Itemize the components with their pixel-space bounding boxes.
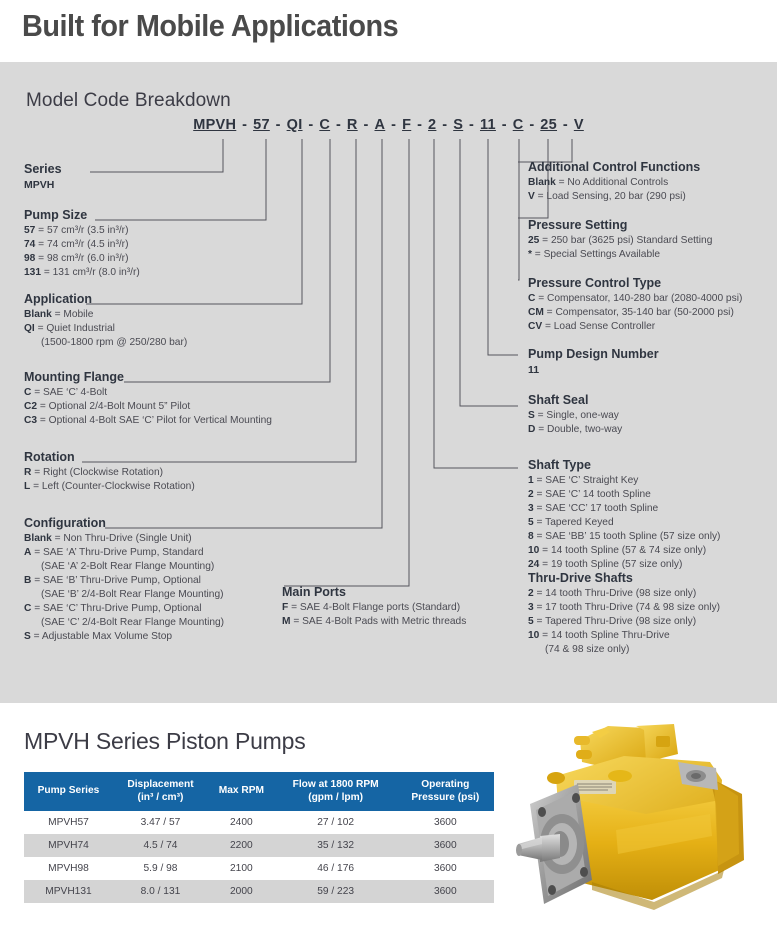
option-code: 25 (528, 235, 539, 246)
option-code: C (528, 293, 535, 304)
right-block-5-option: 3 = SAE ‘CC’ 17 tooth Spline (528, 502, 720, 516)
right-block-6-option: (74 & 98 size only) (528, 643, 720, 657)
block-shaft-seal: Shaft SealS = Single, one-wayD = Double,… (528, 393, 622, 437)
main-ports-option: M = SAE 4-Bolt Pads with Metric threads (282, 615, 466, 629)
right-block-0-option: Blank = No Additional Controls (528, 176, 700, 190)
option-code: 131 (24, 267, 41, 278)
table-row: MPVH744.5 / 74220035 / 1323600 (24, 834, 494, 857)
option-code: 3 (528, 503, 534, 514)
table-column-header: OperatingPressure (psi) (397, 772, 494, 811)
option-code: A (24, 547, 31, 558)
main-ports-heading: Main Ports (282, 585, 466, 599)
table-header-row: Pump SeriesDisplacement(in³ / cm³)Max RP… (24, 772, 494, 811)
table-cell: 3600 (397, 880, 494, 903)
left-block-5-option: (SAE ‘C’ 2/4-Bolt Rear Flange Mounting) (24, 616, 224, 630)
code-segment-57: 57 (253, 117, 270, 133)
block-rotation: RotationR = Right (Clockwise Rotation)L … (24, 450, 195, 494)
option-code: C3 (24, 415, 37, 426)
option-code: Blank (528, 177, 556, 188)
code-segment-c: C (513, 117, 524, 133)
option-code: CM (528, 307, 544, 318)
right-block-5-option: 10 = 14 tooth Spline (57 & 74 size only) (528, 544, 720, 558)
block-pump-size: Pump Size57 = 57 cm³/r (3.5 in³/r)74 = 7… (24, 208, 140, 280)
block-additional-control-functions: Additional Control FunctionsBlank = No A… (528, 160, 700, 204)
code-separator: - (358, 117, 375, 133)
left-block-1-option: 131 = 131 cm³/r (8.0 in³/r) (24, 266, 140, 280)
block-shaft-type: Shaft Type1 = SAE ‘C’ Straight Key2 = SA… (528, 458, 720, 572)
option-code: 8 (528, 531, 534, 542)
table-cell: MPVH131 (24, 880, 113, 903)
option-code: Blank (24, 309, 52, 320)
table-column-header: Flow at 1800 RPM(gpm / lpm) (275, 772, 397, 811)
model-code-string: MPVH - 57 - QI - C - R - A - F - 2 - S -… (0, 117, 777, 133)
table-row: MPVH985.9 / 98210046 / 1763600 (24, 857, 494, 880)
left-block-5-option: A = SAE ‘A’ Thru-Drive Pump, Standard (24, 546, 224, 560)
option-code: 24 (528, 559, 539, 570)
table-cell: 59 / 223 (275, 880, 397, 903)
option-code: 10 (528, 630, 539, 641)
option-code: C (24, 603, 31, 614)
option-code: 5 (528, 517, 534, 528)
pump-specs-table: Pump SeriesDisplacement(in³ / cm³)Max RP… (24, 772, 494, 903)
left-block-2-heading: Application (24, 292, 187, 306)
table-cell: 3600 (397, 834, 494, 857)
code-segment-f: F (402, 117, 411, 133)
left-block-4-heading: Rotation (24, 450, 195, 464)
left-block-3-heading: Mounting Flange (24, 370, 272, 384)
option-code: 98 (24, 253, 35, 264)
code-separator: - (385, 117, 402, 133)
code-separator: - (436, 117, 453, 133)
table-row: MPVH573.47 / 57240027 / 1023600 (24, 811, 494, 834)
left-block-1-option: 98 = 98 cm³/r (6.0 in³/r) (24, 252, 140, 266)
block-configuration: ConfigurationBlank = Non Thru-Drive (Sin… (24, 516, 224, 644)
table-cell: MPVH98 (24, 857, 113, 880)
code-segment-s: S (453, 117, 463, 133)
code-separator: - (330, 117, 347, 133)
left-block-5-heading: Configuration (24, 516, 224, 530)
option-code: Blank (24, 533, 52, 544)
right-block-2-heading: Pressure Control Type (528, 276, 742, 290)
left-block-0-value: MPVH (24, 178, 62, 192)
left-block-5-option: S = Adjustable Max Volume Stop (24, 630, 224, 644)
option-code: S (24, 631, 31, 642)
section-title: MPVH Series Piston Pumps (24, 728, 306, 755)
left-block-3-option: C = SAE ‘C’ 4-Bolt (24, 386, 272, 400)
option-code: V (528, 191, 535, 202)
block-main-ports: Main PortsF = SAE 4-Bolt Flange ports (S… (282, 585, 466, 629)
option-code: B (24, 575, 31, 586)
option-code: C2 (24, 401, 37, 412)
block-pressure-setting: Pressure Setting25 = 250 bar (3625 psi) … (528, 218, 712, 262)
left-block-2-option: QI = Quiet Industrial (24, 322, 187, 336)
option-code: QI (24, 323, 35, 334)
table-cell: 5.9 / 98 (113, 857, 208, 880)
panel-title: Model Code Breakdown (26, 90, 231, 112)
table-cell: 8.0 / 131 (113, 880, 208, 903)
code-separator: - (524, 117, 541, 133)
code-segment-25: 25 (540, 117, 557, 133)
table-cell: 2400 (208, 811, 275, 834)
option-code: 1 (528, 475, 534, 486)
option-code: R (24, 467, 31, 478)
code-separator: - (236, 117, 253, 133)
table-column-header: Pump Series (24, 772, 113, 811)
left-block-4-option: R = Right (Clockwise Rotation) (24, 466, 195, 480)
right-block-1-option: 25 = 250 bar (3625 psi) Standard Setting (528, 234, 712, 248)
option-code: 2 (528, 489, 534, 500)
option-code: 2 (528, 588, 534, 599)
code-separator: - (303, 117, 320, 133)
left-block-3-option: C3 = Optional 4-Bolt SAE ‘C’ Pilot for V… (24, 414, 272, 428)
code-segment-11: 11 (480, 117, 496, 133)
right-block-6-option: 3 = 17 tooth Thru-Drive (74 & 98 size on… (528, 601, 720, 615)
code-separator: - (411, 117, 428, 133)
left-block-4-option: L = Left (Counter-Clockwise Rotation) (24, 480, 195, 494)
table-cell: 4.5 / 74 (113, 834, 208, 857)
right-block-5-option: 2 = SAE ‘C’ 14 tooth Spline (528, 488, 720, 502)
option-code: 57 (24, 225, 35, 236)
table-cell: MPVH74 (24, 834, 113, 857)
right-block-5-option: 8 = SAE ‘BB’ 15 tooth Spline (57 size on… (528, 530, 720, 544)
code-separator: - (463, 117, 480, 133)
block-thru-drive-shafts: Thru-Drive Shafts2 = 14 tooth Thru-Drive… (528, 571, 720, 657)
option-code: F (282, 602, 288, 613)
right-block-5-option: 5 = Tapered Keyed (528, 516, 720, 530)
code-segment-mpvh: MPVH (193, 117, 236, 133)
option-code: M (282, 616, 291, 627)
table-cell: MPVH57 (24, 811, 113, 834)
code-separator: - (496, 117, 513, 133)
option-code: 3 (528, 602, 534, 613)
right-block-4-heading: Shaft Seal (528, 393, 622, 407)
table-cell: 2100 (208, 857, 275, 880)
table-header: Pump SeriesDisplacement(in³ / cm³)Max RP… (24, 772, 494, 811)
option-code: D (528, 424, 535, 435)
option-code: 5 (528, 616, 534, 627)
right-block-2-option: CM = Compensator, 35-140 bar (50-2000 ps… (528, 306, 742, 320)
right-block-2-option: C = Compensator, 140-280 bar (2080-4000 … (528, 292, 742, 306)
right-block-3-heading: Pump Design Number (528, 347, 659, 361)
left-block-5-option: (SAE ‘A’ 2-Bolt Rear Flange Mounting) (24, 560, 224, 574)
left-block-1-option: 57 = 57 cm³/r (3.5 in³/r) (24, 224, 140, 238)
right-block-6-option: 2 = 14 tooth Thru-Drive (98 size only) (528, 587, 720, 601)
right-block-5-option: 1 = SAE ‘C’ Straight Key (528, 474, 720, 488)
right-block-5-option: 24 = 19 tooth Spline (57 size only) (528, 558, 720, 572)
option-code: C (24, 387, 31, 398)
left-block-1-option: 74 = 74 cm³/r (4.5 in³/r) (24, 238, 140, 252)
right-block-6-option: 5 = Tapered Thru-Drive (98 size only) (528, 615, 720, 629)
table-column-header: Displacement(in³ / cm³) (113, 772, 208, 811)
code-segment-r: R (347, 117, 358, 133)
table-cell: 46 / 176 (275, 857, 397, 880)
code-separator: - (557, 117, 574, 133)
block-mounting-flange: Mounting FlangeC = SAE ‘C’ 4-BoltC2 = Op… (24, 370, 272, 428)
right-block-6-option: 10 = 14 tooth Spline Thru-Drive (528, 629, 720, 643)
right-block-4-option: S = Single, one-way (528, 409, 622, 423)
left-block-5-option: Blank = Non Thru-Drive (Single Unit) (24, 532, 224, 546)
code-segment-qi: QI (287, 117, 303, 133)
block-series: SeriesMPVH (24, 162, 62, 192)
table-cell: 3600 (397, 857, 494, 880)
right-block-1-option: * = Special Settings Available (528, 248, 712, 262)
right-block-4-option: D = Double, two-way (528, 423, 622, 437)
code-segment-v: V (574, 117, 584, 133)
table-column-header: Max RPM (208, 772, 275, 811)
right-block-5-heading: Shaft Type (528, 458, 720, 472)
right-block-6-heading: Thru-Drive Shafts (528, 571, 720, 585)
table-cell: 35 / 132 (275, 834, 397, 857)
table-body: MPVH573.47 / 57240027 / 1023600MPVH744.5… (24, 811, 494, 903)
option-code: L (24, 481, 30, 492)
right-block-2-option: CV = Load Sense Controller (528, 320, 742, 334)
block-pressure-control-type: Pressure Control TypeC = Compensator, 14… (528, 276, 742, 334)
left-block-0-heading: Series (24, 162, 62, 176)
block-application: ApplicationBlank = MobileQI = Quiet Indu… (24, 292, 187, 350)
right-block-0-option: V = Load Sensing, 20 bar (290 psi) (528, 190, 700, 204)
code-segment-c: C (319, 117, 330, 133)
main-ports-option: F = SAE 4-Bolt Flange ports (Standard) (282, 601, 466, 615)
right-block-1-heading: Pressure Setting (528, 218, 712, 232)
left-block-3-option: C2 = Optional 2/4-Bolt Mount 5” Pilot (24, 400, 272, 414)
table-cell: 2200 (208, 834, 275, 857)
left-block-2-option: Blank = Mobile (24, 308, 187, 322)
option-code: * (528, 249, 532, 260)
left-block-1-heading: Pump Size (24, 208, 140, 222)
option-code: S (528, 410, 535, 421)
table-row: MPVH1318.0 / 131200059 / 2233600 (24, 880, 494, 903)
table-cell: 3600 (397, 811, 494, 834)
table-cell: 2000 (208, 880, 275, 903)
left-block-5-option: C = SAE ‘C’ Thru-Drive Pump, Optional (24, 602, 224, 616)
left-block-5-option: B = SAE ‘B’ Thru-Drive Pump, Optional (24, 574, 224, 588)
table-cell: 3.47 / 57 (113, 811, 208, 834)
block-pump-design-number: Pump Design Number11 (528, 347, 659, 377)
option-code: 10 (528, 545, 539, 556)
table-cell: 27 / 102 (275, 811, 397, 834)
right-block-0-heading: Additional Control Functions (528, 160, 700, 174)
option-code: CV (528, 321, 542, 332)
code-segment-a: A (374, 117, 385, 133)
page-title: Built for Mobile Applications (22, 8, 398, 44)
left-block-2-option: (1500-1800 rpm @ 250/280 bar) (24, 336, 187, 350)
code-separator: - (270, 117, 287, 133)
option-code: 74 (24, 239, 35, 250)
piston-pump-photo (496, 718, 768, 918)
left-block-5-option: (SAE ‘B’ 2/4-Bolt Rear Flange Mounting) (24, 588, 224, 602)
right-block-3-value: 11 (528, 363, 659, 377)
